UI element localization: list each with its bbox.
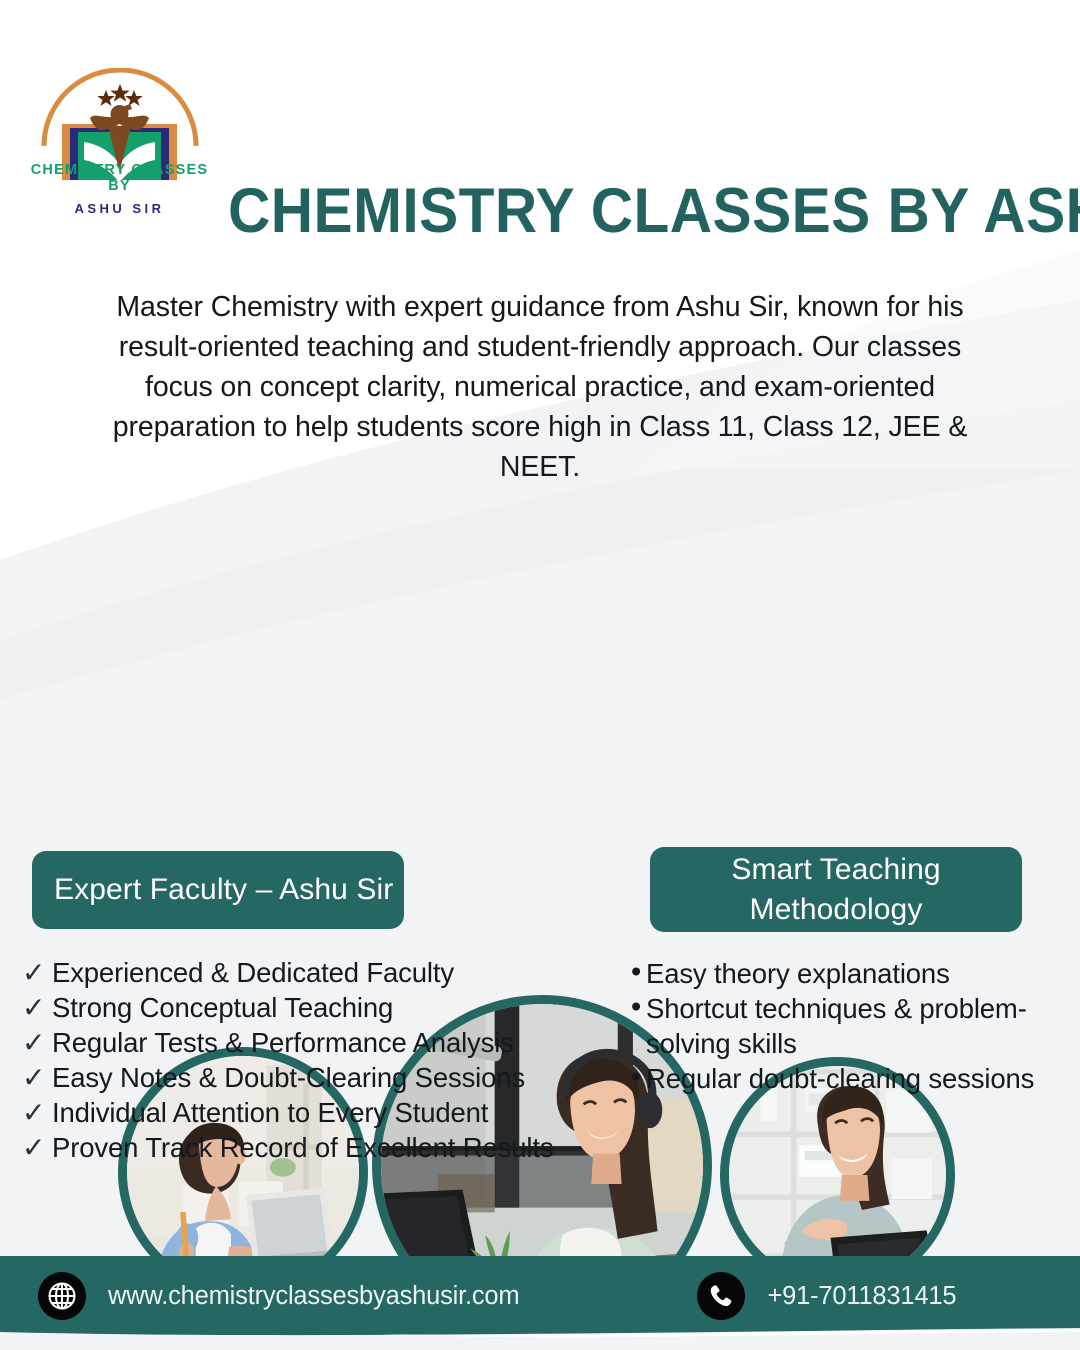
intro-paragraph: Master Chemistry with expert guidance fr… bbox=[95, 287, 985, 487]
check-icon: ✓ bbox=[22, 955, 52, 990]
list-item-label: Individual Attention to Every Student bbox=[52, 1095, 488, 1130]
list-item: ✓ Regular Tests & Performance Analysis bbox=[22, 1025, 622, 1060]
check-icon: ✓ bbox=[22, 1060, 52, 1095]
smart-teaching-list: • Easy theory explanations • Shortcut te… bbox=[628, 956, 1068, 1096]
badge-expert-faculty: Expert Faculty – Ashu Sir bbox=[32, 851, 404, 929]
list-item: • Easy theory explanations bbox=[628, 956, 1068, 991]
footer-website[interactable]: www.chemistryclassesbyashusir.com bbox=[38, 1272, 519, 1320]
brand-logo: CHEMISTRY CLASSES BY ASHU SIR bbox=[22, 68, 217, 203]
list-item-label: Proven Track Record of Excellent Results bbox=[52, 1130, 553, 1165]
list-item: • Regular doubt-clearing sessions bbox=[628, 1061, 1068, 1096]
logo-tagline-line2: ASHU SIR bbox=[22, 201, 217, 216]
list-item: ✓ Strong Conceptual Teaching bbox=[22, 990, 622, 1025]
phone-icon bbox=[697, 1272, 745, 1320]
check-icon: ✓ bbox=[22, 990, 52, 1025]
logo-tagline-line1: CHEMISTRY CLASSES BY bbox=[22, 162, 217, 194]
website-url: www.chemistryclassesbyashusir.com bbox=[108, 1282, 519, 1311]
list-item-label: Shortcut techniques & problem-solving sk… bbox=[646, 991, 1068, 1061]
list-item: • Shortcut techniques & problem-solving … bbox=[628, 991, 1068, 1061]
list-item-label: Regular doubt-clearing sessions bbox=[646, 1061, 1034, 1096]
list-item: ✓ Proven Track Record of Excellent Resul… bbox=[22, 1130, 622, 1165]
poster-header: CHEMISTRY CLASSES BY ASHU SIR CHEMISTRY … bbox=[0, 60, 1080, 210]
footer-phone[interactable]: +91-7011831415 bbox=[697, 1272, 956, 1320]
badge-smart-teaching: Smart Teaching Methodology bbox=[650, 847, 1022, 932]
bullet-icon: • bbox=[628, 1061, 646, 1096]
expert-faculty-list: ✓ Experienced & Dedicated Faculty ✓ Stro… bbox=[22, 955, 622, 1165]
check-icon: ✓ bbox=[22, 1095, 52, 1130]
page-title: CHEMISTRY CLASSES BY ASHU SIR bbox=[228, 180, 1000, 243]
globe-icon bbox=[38, 1272, 86, 1320]
list-item-label: Experienced & Dedicated Faculty bbox=[52, 955, 454, 990]
student-online-class-right-image bbox=[729, 1066, 946, 1283]
bullet-icon: • bbox=[628, 991, 646, 1026]
phone-number: +91-7011831415 bbox=[767, 1282, 956, 1311]
list-item-label: Regular Tests & Performance Analysis bbox=[52, 1025, 514, 1060]
check-icon: ✓ bbox=[22, 1025, 52, 1060]
poster-canvas: CHEMISTRY CLASSES BY ASHU SIR CHEMISTRY … bbox=[0, 0, 1080, 1350]
list-item-label: Easy theory explanations bbox=[646, 956, 950, 991]
bullet-icon: • bbox=[628, 956, 646, 991]
footer-bar: www.chemistryclassesbyashusir.com +91-70… bbox=[0, 1256, 1080, 1336]
list-item-label: Easy Notes & Doubt-Clearing Sessions bbox=[52, 1060, 525, 1095]
list-item: ✓ Easy Notes & Doubt-Clearing Sessions bbox=[22, 1060, 622, 1095]
photo-circle-group bbox=[0, 495, 1080, 850]
list-item-label: Strong Conceptual Teaching bbox=[52, 990, 393, 1025]
list-item: ✓ Experienced & Dedicated Faculty bbox=[22, 955, 622, 990]
check-icon: ✓ bbox=[22, 1130, 52, 1165]
list-item: ✓ Individual Attention to Every Student bbox=[22, 1095, 622, 1130]
